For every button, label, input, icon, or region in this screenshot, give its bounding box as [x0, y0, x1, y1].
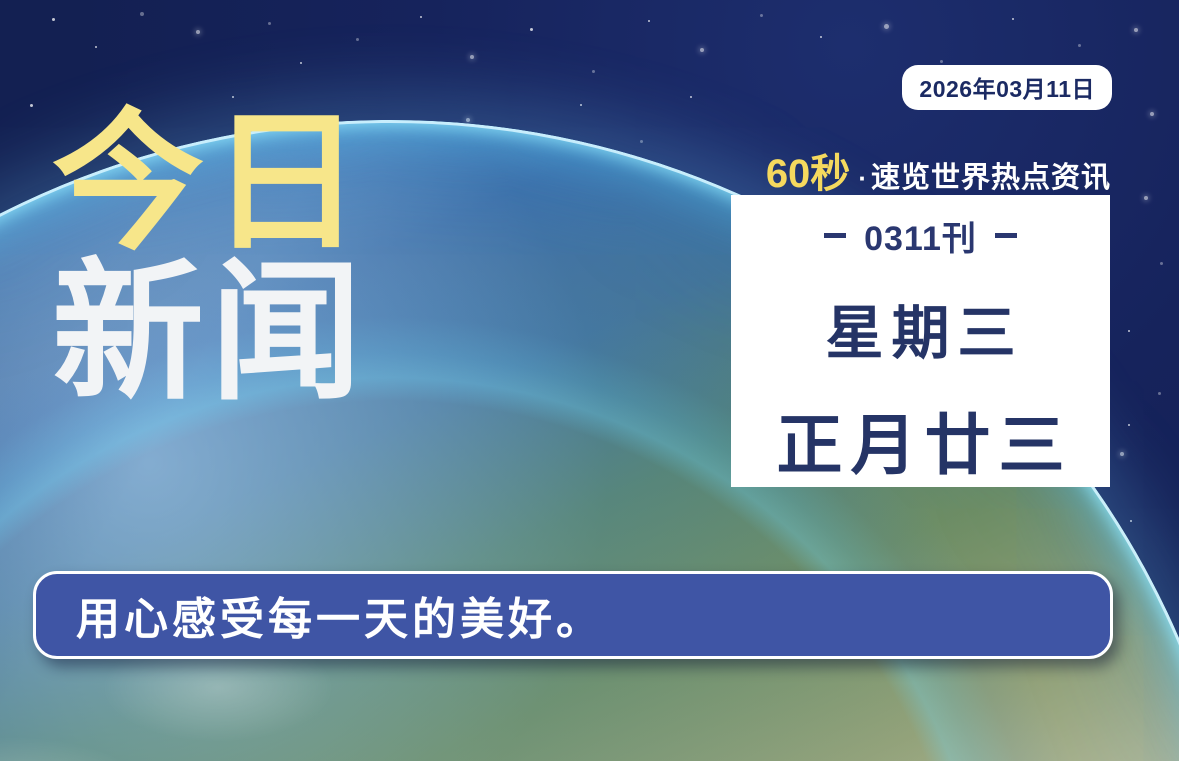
dash-left-icon — [824, 233, 846, 238]
poster-headline: 今日 新闻 — [52, 108, 368, 408]
tagline-text: 速览世界热点资讯 — [871, 154, 1111, 196]
news-poster: 今日 新闻 2026年03月11日 60秒 · 速览世界热点资讯 0311刊 星… — [0, 0, 1179, 761]
date-badge: 2026年03月11日 — [902, 65, 1112, 110]
issue-number-row: 0311刊 — [824, 211, 1017, 260]
issue-info-card: 0311刊 星期三 正月廿三 — [731, 195, 1110, 487]
tagline-seconds: 60秒 — [766, 141, 851, 199]
lunar-date-label: 正月廿三 — [769, 392, 1073, 488]
quote-banner: 用心感受每一天的美好。 — [33, 571, 1113, 659]
weekday-label: 星期三 — [817, 286, 1023, 370]
headline-line-news: 新闻 — [52, 258, 368, 408]
issue-number: 0311刊 — [864, 211, 977, 260]
dash-right-icon — [995, 233, 1017, 238]
tagline: 60秒 · 速览世界热点资讯 — [766, 141, 1111, 199]
headline-line-today: 今日 — [52, 108, 368, 258]
quote-banner-text: 用心感受每一天的美好。 — [76, 583, 604, 647]
tagline-separator: · — [858, 163, 867, 194]
